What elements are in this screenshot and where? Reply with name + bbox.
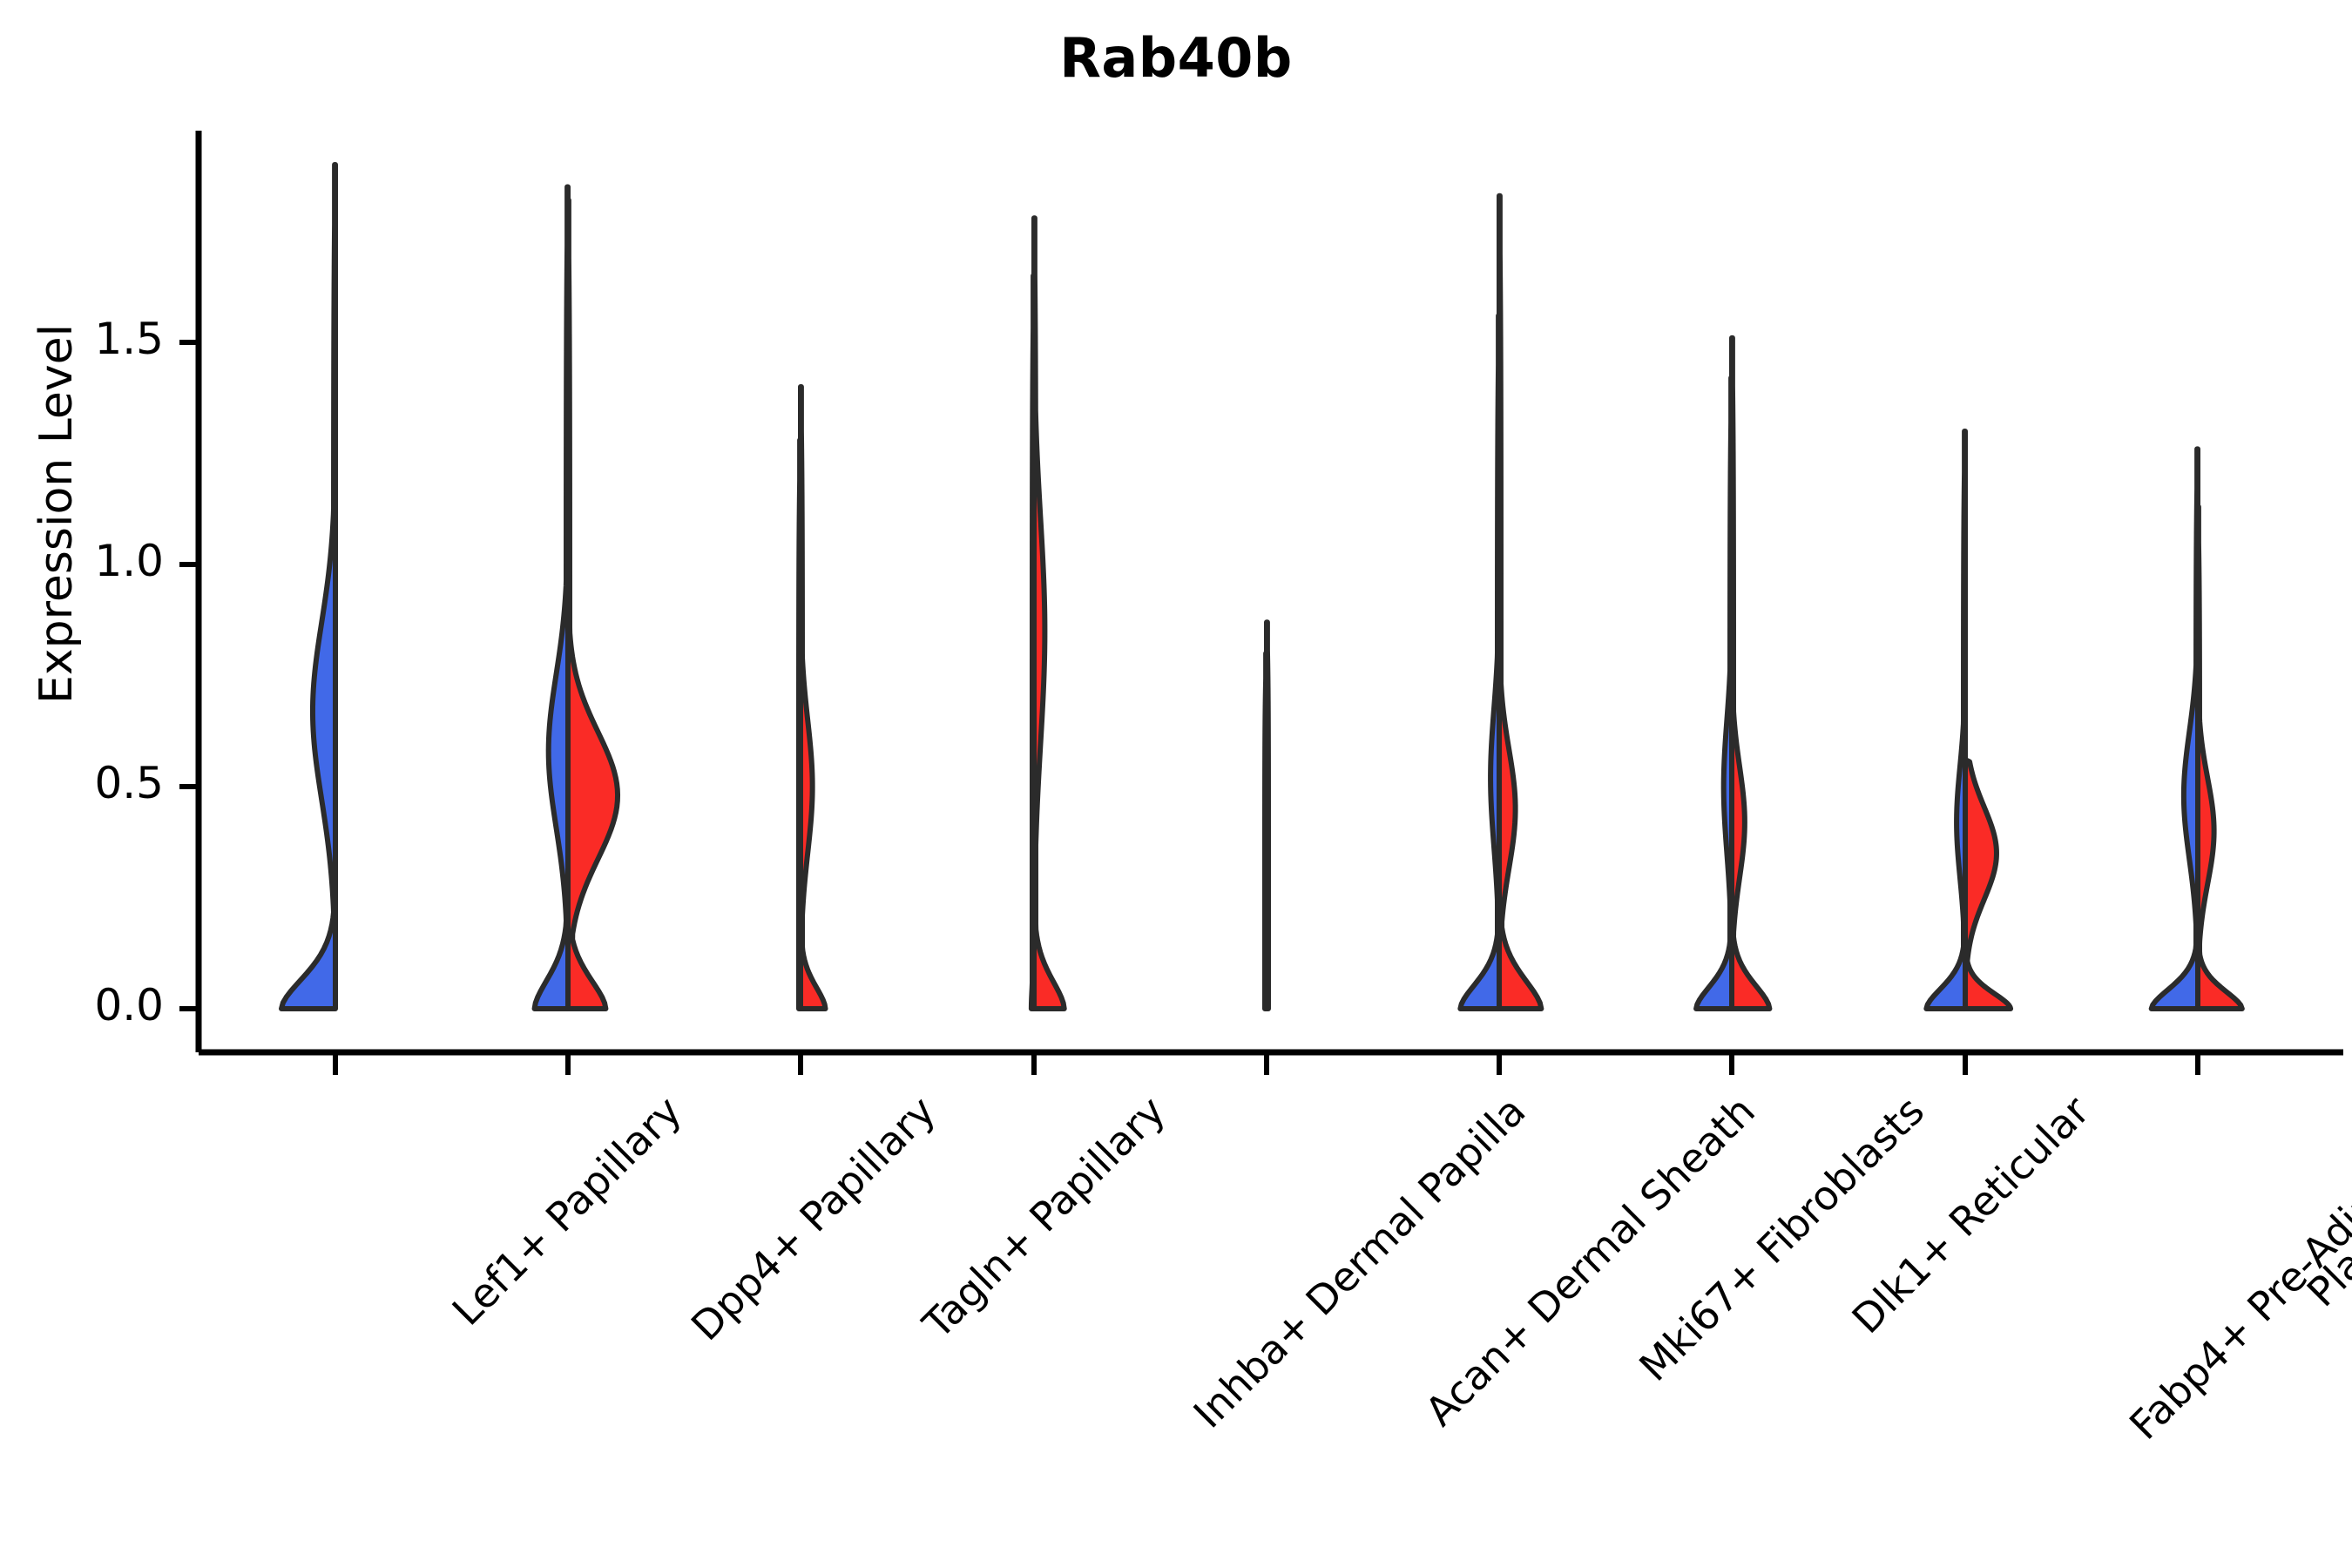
axis-layer [179, 131, 2343, 1075]
violin-blue-8 [2152, 449, 2198, 1009]
violin-blue-6 [1696, 378, 1732, 1009]
violin-group-3 [1031, 218, 1064, 1009]
violin-layer [281, 165, 2242, 1009]
violin-red-4 [1267, 622, 1268, 1009]
violin-blue-1 [535, 187, 568, 1010]
violin-group-4 [1265, 622, 1268, 1009]
violin-red-7 [1965, 760, 2011, 1009]
violin-blue-5 [1460, 315, 1499, 1009]
violin-group-7 [1926, 431, 2011, 1009]
violin-red-6 [1732, 338, 1769, 1009]
y-tick-label-3: 1.5 [24, 314, 164, 364]
plot-canvas [0, 0, 2352, 1568]
violin-group-2 [799, 387, 826, 1009]
violin-group-8 [2152, 449, 2242, 1009]
violin-group-5 [1460, 196, 1541, 1009]
y-tick-label-0: 0.0 [24, 980, 164, 1031]
violin-group-1 [535, 187, 618, 1010]
y-tick-label-1: 0.5 [24, 758, 164, 808]
violin-blue-7 [1926, 431, 1965, 1009]
violin-blue-0 [281, 165, 335, 1009]
violin-group-0 [281, 165, 335, 1009]
violin-group-6 [1696, 338, 1769, 1009]
violin-red-5 [1499, 196, 1541, 1009]
violin-red-8 [2198, 507, 2242, 1009]
violin-red-1 [568, 200, 618, 1009]
violin-red-3 [1034, 218, 1064, 1009]
violin-red-2 [801, 387, 826, 1009]
y-tick-label-2: 1.0 [24, 536, 164, 586]
violin-plot-figure: Rab40b Expression Level 0.00.51.01.5 Lef… [0, 0, 2352, 1568]
